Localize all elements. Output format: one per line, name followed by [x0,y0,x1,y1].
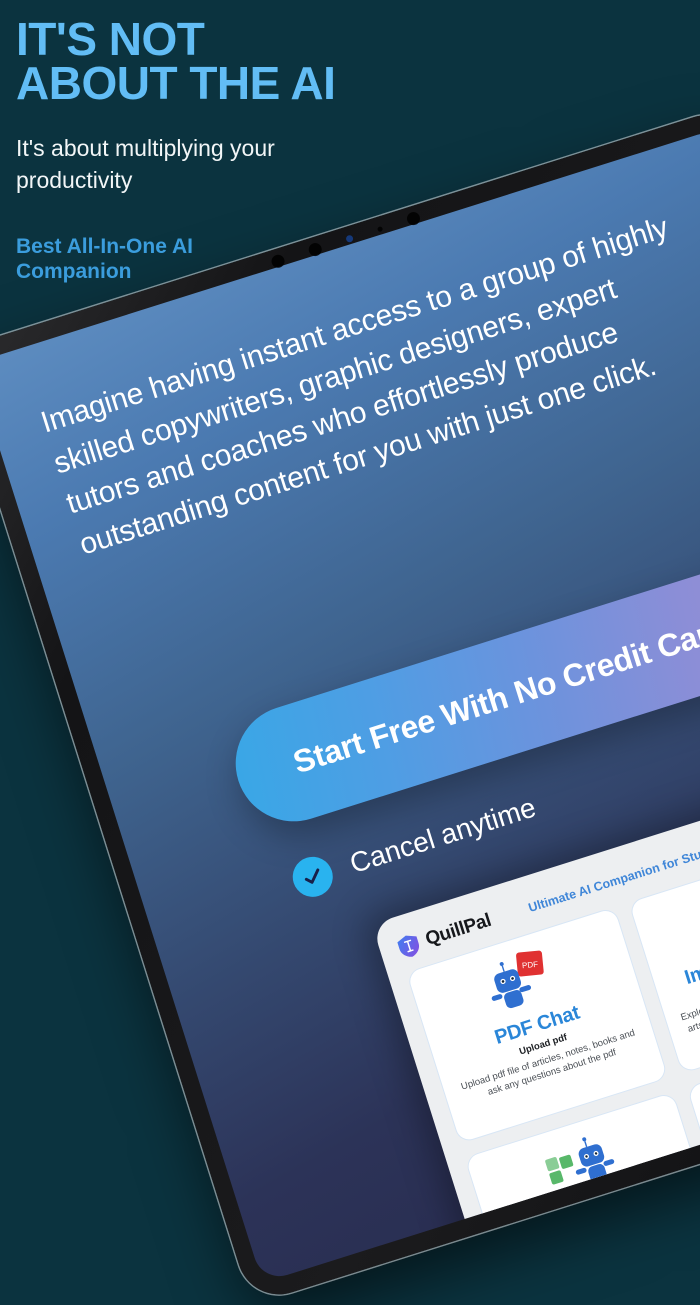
cancel-anytime-label: Cancel anytime [346,792,540,881]
start-free-button-label: Start Free With No Credit Card [289,609,700,781]
hero-section: IT'S NOT ABOUT THE AI It's about multipl… [16,18,486,284]
page-title: IT'S NOT ABOUT THE AI [16,18,486,105]
tablet-screen: Imagine having instant access to a group… [0,127,700,1283]
svg-text:PDF: PDF [522,960,539,971]
brand-name: QuillPal [423,910,494,951]
check-circle-icon [288,852,338,902]
app-preview-panel: QuillPal Ultimate AI Companion for Stude… [372,708,700,1283]
start-free-button[interactable]: Start Free With No Credit Card [221,554,700,836]
feature-card-subtitle: Write Content Fast [506,1195,697,1265]
headline-line-2: ABOUT THE AI [16,62,486,106]
tablet-body: Imagine having instant access to a group… [0,105,700,1305]
screen-content: Imagine having instant access to a group… [0,127,700,1283]
eyebrow-text: Best All-In-One AI Companion [16,235,281,285]
tablet-device: Imagine having instant access to a group… [0,105,700,1305]
subheadline: It's about multiplying your productivity [16,133,346,196]
feature-card-description: Generate blogs, essays and social posts … [511,1209,700,1282]
shield-logo-icon [395,931,423,961]
